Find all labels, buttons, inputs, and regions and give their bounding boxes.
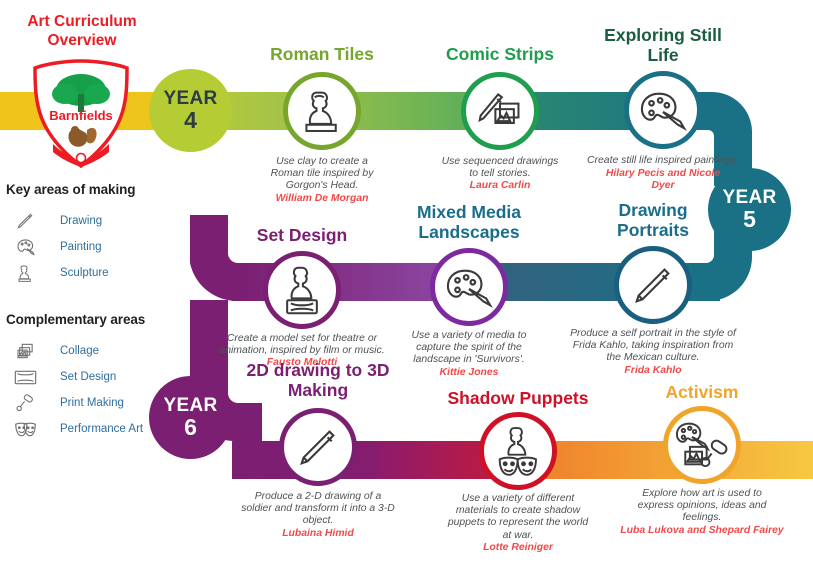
topic-bubble [283, 72, 361, 150]
topic-artist: Hilary Pecis and Nicole Dyer [568, 168, 758, 192]
year-word: YEAR [164, 89, 218, 108]
topic-artist: Frida Kahlo [558, 365, 748, 377]
topic-description: Produce a 2-D drawing of a soldier and t… [216, 491, 421, 528]
topic-title: 2D drawing to 3D Making [203, 360, 433, 400]
topic-title: Drawing Portraits [553, 200, 753, 240]
topic-bubble [430, 248, 508, 326]
topic-bubble [279, 408, 357, 486]
art-curriculum-poster: Art Curriculum Overview Barnfields Key a… [0, 0, 813, 563]
topic-title: Roman Tiles [222, 44, 422, 64]
topic-artist: Lubaina Himid [223, 528, 413, 540]
topic-description: Create still life inspired paintings. [563, 155, 763, 167]
topic-title: Exploring Still Life [563, 25, 763, 65]
palette-collage-roller-icon [673, 419, 731, 471]
topic-description: Explore how art is used to express opini… [612, 488, 792, 525]
topic-bubble [263, 251, 341, 329]
sculpture-icon [300, 87, 344, 135]
svg-text:Barnfields: Barnfields [49, 108, 113, 123]
topic-artist: Lotte Reiniger [423, 542, 613, 554]
topic-bubble [461, 72, 539, 150]
school-crest-logo: Barnfields [27, 58, 135, 170]
topic-title: Activism [602, 382, 802, 402]
sculpture-stage-icon [279, 264, 325, 316]
page-title: Art Curriculum Overview [8, 12, 156, 50]
sculpture-masks-icon [496, 425, 540, 477]
topic-bubble [479, 412, 557, 490]
year-number: 6 [184, 416, 197, 439]
topic-title: Mixed Media Landscapes [369, 202, 569, 242]
year-badge-4: YEAR 4 [149, 69, 232, 152]
topic-bubble [663, 406, 741, 484]
pencil-collage-icon [474, 87, 526, 135]
pencil-icon [295, 424, 341, 470]
topic-artist: Laura Carlin [405, 180, 595, 192]
pencil-icon [630, 262, 676, 308]
year-number: 4 [184, 109, 197, 132]
topic-artist: Luba Lukova and Shepard Fairey [587, 525, 813, 537]
topic-title: Shadow Puppets [418, 388, 618, 408]
topic-description: Use clay to create a Roman tile inspired… [227, 156, 417, 193]
topic-bubble [614, 246, 692, 324]
palette-icon [638, 87, 688, 133]
palette-icon [444, 264, 494, 310]
topic-description: Produce a self portrait in the style of … [546, 328, 761, 365]
topic-bubble [624, 71, 702, 149]
